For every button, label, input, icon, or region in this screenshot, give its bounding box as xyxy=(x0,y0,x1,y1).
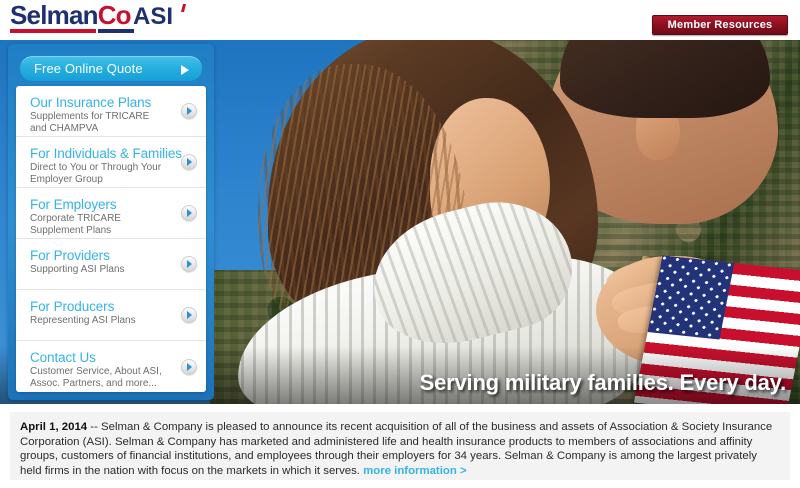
logo-underline-rules xyxy=(10,29,134,34)
flag-canton xyxy=(648,255,735,339)
chevron-right-icon xyxy=(181,65,189,75)
chevron-right-icon[interactable] xyxy=(181,307,197,323)
sidebar-item-title: Contact Us xyxy=(30,350,172,365)
sidebar-item-title: For Producers xyxy=(30,299,172,314)
logo-selman-text: Selman xyxy=(10,0,98,30)
sidebar-item-for-employers[interactable]: For Employers Corporate TRICARE Suppleme… xyxy=(16,188,206,239)
page-root: SelmanCo ASI Member Resources xyxy=(0,0,800,488)
sidebar-item-subtitle: Supporting ASI Plans xyxy=(30,264,172,276)
chevron-right-icon[interactable] xyxy=(181,154,197,170)
free-online-quote-button[interactable]: Free Online Quote xyxy=(20,56,202,81)
logo-wordmark: SelmanCo xyxy=(10,2,134,28)
chevron-right-icon[interactable] xyxy=(181,359,197,375)
sidebar-item-title: For Employers xyxy=(30,197,172,212)
asi-accent-mark-icon xyxy=(181,4,186,12)
logo-rule-red xyxy=(10,29,96,33)
sidebar-item-for-producers[interactable]: For Producers Representing ASI Plans xyxy=(16,290,206,341)
sidebar-item-subtitle: Customer Service, About ASI, Assoc. Part… xyxy=(30,366,172,390)
sidebar-item-subtitle: Representing ASI Plans xyxy=(30,315,172,327)
sidebar-item-title: Our Insurance Plans xyxy=(30,95,172,110)
announcement-box: April 1, 2014 -- Selman & Company is ple… xyxy=(10,412,790,480)
asi-logo[interactable]: ASI xyxy=(133,5,173,29)
sidebar-item-title: For Individuals & Families xyxy=(30,146,172,161)
sidebar-item-title: For Providers xyxy=(30,248,172,263)
announcement-section: April 1, 2014 -- Selman & Company is ple… xyxy=(0,404,800,488)
logo-rule-navy xyxy=(98,29,134,33)
selmanco-logo[interactable]: SelmanCo xyxy=(10,2,134,34)
flag-stars xyxy=(648,255,735,339)
sidebar-item-for-individuals-and-families[interactable]: For Individuals & Families Direct to You… xyxy=(16,137,206,188)
sidebar-item-our-insurance-plans[interactable]: Our Insurance Plans Supplements for TRIC… xyxy=(16,86,206,137)
chevron-right-icon[interactable] xyxy=(181,103,197,119)
site-header: SelmanCo ASI Member Resources xyxy=(0,0,800,40)
hero-tagline: Serving military families. Every day. xyxy=(420,370,786,396)
sidebar-item-subtitle: Supplements for TRICARE and CHAMPVA xyxy=(30,111,172,135)
logo-co-text: Co xyxy=(98,0,131,30)
sidebar-item-subtitle: Corporate TRICARE Supplement Plans xyxy=(30,213,172,237)
free-online-quote-label: Free Online Quote xyxy=(34,61,143,76)
announcement-text: April 1, 2014 -- Selman & Company is ple… xyxy=(20,420,780,478)
sidebar-item-contact-us[interactable]: Contact Us Customer Service, About ASI, … xyxy=(16,341,206,392)
announcement-date: April 1, 2014 xyxy=(20,421,87,433)
more-information-link[interactable]: more information > xyxy=(363,465,466,477)
sidebar-nav-card: Our Insurance Plans Supplements for TRIC… xyxy=(16,86,206,392)
sidebar-item-for-providers[interactable]: For Providers Supporting ASI Plans xyxy=(16,239,206,290)
chevron-right-icon[interactable] xyxy=(181,205,197,221)
sidebar-item-subtitle: Direct to You or Through Your Employer G… xyxy=(30,162,172,186)
chevron-right-icon[interactable] xyxy=(181,256,197,272)
member-resources-button[interactable]: Member Resources xyxy=(652,15,788,35)
soldier-hair xyxy=(560,40,770,118)
